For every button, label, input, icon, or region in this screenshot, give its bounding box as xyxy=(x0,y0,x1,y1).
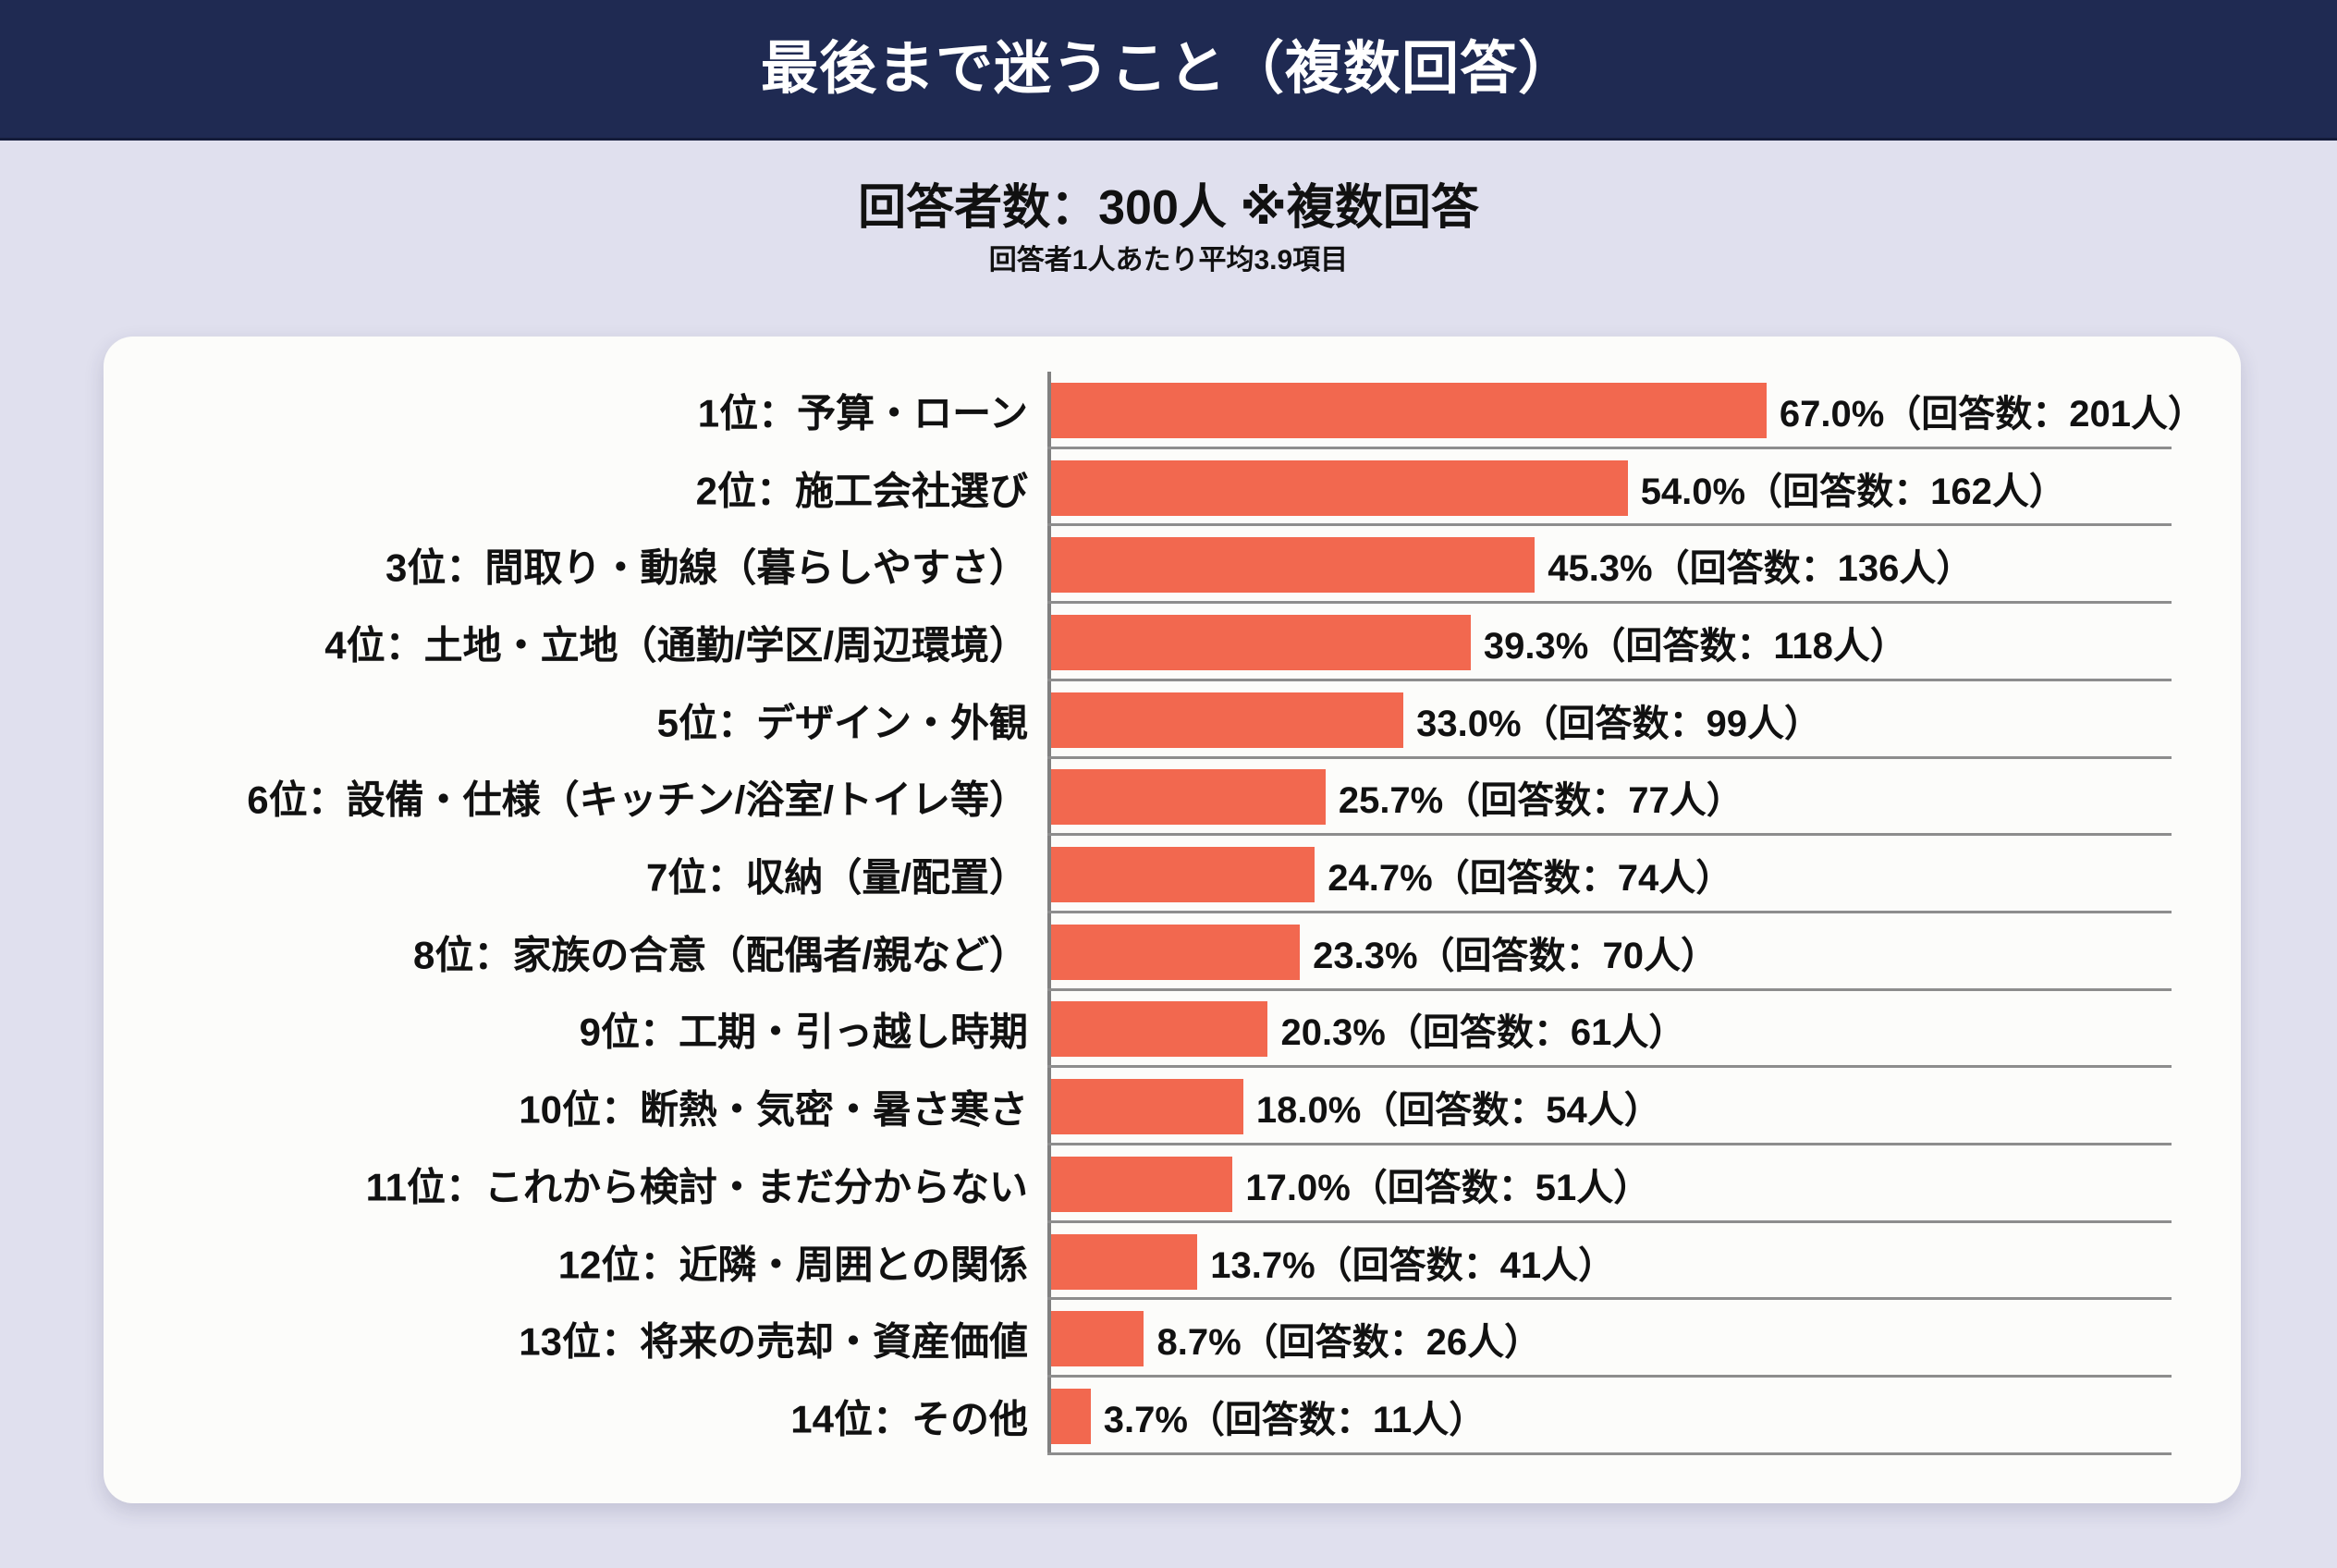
bar xyxy=(1051,1234,1197,1290)
category-label: 9位：工期・引っ越し時期 xyxy=(580,1001,1028,1058)
bar-track: 25.7%（回答数：77人） xyxy=(1051,769,2216,825)
bar-value-label: 67.0%（回答数：201人） xyxy=(1780,384,2205,437)
bar-value-label: 24.7%（回答数：74人） xyxy=(1328,848,1732,901)
bar xyxy=(1051,1079,1243,1134)
category-label: 11位：これから検討・まだ分からない xyxy=(366,1156,1028,1212)
chart-row: 5位：デザイン・外観33.0%（回答数：99人） xyxy=(104,681,2241,759)
category-label: 2位：施工会社選び xyxy=(696,459,1028,516)
bar xyxy=(1051,383,1767,438)
bar xyxy=(1051,925,1300,980)
chart-row: 13位：将来の売却・資産価値8.7%（回答数：26人） xyxy=(104,1300,2241,1378)
chart-row: 1位：予算・ローン67.0%（回答数：201人） xyxy=(104,372,2241,449)
bar xyxy=(1051,1389,1091,1444)
bar xyxy=(1051,692,1403,748)
average-items-label: 回答者1人あたり平均3.9項目 xyxy=(0,244,2337,277)
bar-value-label: 20.3%（回答数：61人） xyxy=(1280,1002,1685,1056)
chart-row: 4位：土地・立地（通勤/学区/周辺環境）39.3%（回答数：118人） xyxy=(104,604,2241,681)
bar-value-label: 33.0%（回答数：99人） xyxy=(1416,693,1821,747)
bar-value-label: 45.3%（回答数：136人） xyxy=(1548,538,1973,592)
chart-row: 10位：断熱・気密・暑さ寒さ18.0%（回答数：54人） xyxy=(104,1068,2241,1145)
bar xyxy=(1051,537,1535,593)
category-label: 14位：その他 xyxy=(790,1388,1028,1444)
chart-row: 8位：家族の合意（配偶者/親など）23.3%（回答数：70人） xyxy=(104,913,2241,991)
respondent-count-label: 回答者数：300人 ※複数回答 xyxy=(0,181,2337,237)
bar-value-label: 17.0%（回答数：51人） xyxy=(1245,1158,1650,1211)
bar-track: 18.0%（回答数：54人） xyxy=(1051,1079,2216,1134)
bar xyxy=(1051,847,1315,902)
slide-root: 最後まで迷うこと（複数回答） 回答者数：300人 ※複数回答 回答者1人あたり平… xyxy=(0,0,2337,1568)
bar xyxy=(1051,615,1471,670)
category-label: 6位：設備・仕様（キッチン/浴室/トイレ等） xyxy=(247,769,1028,826)
bar-track: 3.7%（回答数：11人） xyxy=(1051,1389,2216,1444)
category-label: 7位：収納（量/配置） xyxy=(646,847,1028,903)
bar xyxy=(1051,1157,1232,1212)
bar-track: 17.0%（回答数：51人） xyxy=(1051,1157,2216,1212)
header-band: 最後まで迷うこと（複数回答） xyxy=(0,0,2337,141)
bar-track: 20.3%（回答数：61人） xyxy=(1051,1001,2216,1057)
category-label: 1位：予算・ローン xyxy=(698,382,1028,438)
category-label: 10位：断熱・気密・暑さ寒さ xyxy=(519,1079,1028,1135)
bar xyxy=(1051,1311,1144,1366)
gridline xyxy=(1047,1452,2172,1455)
bar-track: 45.3%（回答数：136人） xyxy=(1051,537,2216,593)
chart-row: 6位：設備・仕様（キッチン/浴室/トイレ等）25.7%（回答数：77人） xyxy=(104,759,2241,837)
category-label: 4位：土地・立地（通勤/学区/周辺環境） xyxy=(324,614,1028,670)
category-label: 8位：家族の合意（配偶者/親など） xyxy=(413,924,1028,980)
chart-row: 14位：その他3.7%（回答数：11人） xyxy=(104,1378,2241,1455)
category-label: 5位：デザイン・外観 xyxy=(657,692,1028,748)
bar-value-label: 23.3%（回答数：70人） xyxy=(1313,925,1718,979)
bar-value-label: 54.0%（回答数：162人） xyxy=(1641,461,2066,515)
bar-value-label: 3.7%（回答数：11人） xyxy=(1104,1390,1486,1443)
category-label: 12位：近隣・周囲との関係 xyxy=(558,1233,1028,1290)
bar xyxy=(1051,769,1326,825)
bar-track: 39.3%（回答数：118人） xyxy=(1051,615,2216,670)
bar-track: 67.0%（回答数：201人） xyxy=(1051,383,2216,438)
bar-chart: 1位：予算・ローン67.0%（回答数：201人）2位：施工会社選び54.0%（回… xyxy=(104,337,2241,1503)
chart-card: 1位：予算・ローン67.0%（回答数：201人）2位：施工会社選び54.0%（回… xyxy=(104,337,2241,1503)
bar-track: 8.7%（回答数：26人） xyxy=(1051,1311,2216,1366)
bar-track: 13.7%（回答数：41人） xyxy=(1051,1234,2216,1290)
bar-value-label: 18.0%（回答数：54人） xyxy=(1256,1080,1661,1133)
bar xyxy=(1051,460,1628,516)
chart-row: 7位：収納（量/配置）24.7%（回答数：74人） xyxy=(104,836,2241,913)
chart-row: 11位：これから検討・まだ分からない17.0%（回答数：51人） xyxy=(104,1145,2241,1223)
page-title: 最後まで迷うこと（複数回答） xyxy=(761,41,1576,98)
bar-value-label: 25.7%（回答数：77人） xyxy=(1339,770,1744,824)
bar xyxy=(1051,1001,1267,1057)
chart-row: 3位：間取り・動線（暮らしやすさ）45.3%（回答数：136人） xyxy=(104,526,2241,604)
chart-row: 9位：工期・引っ越し時期20.3%（回答数：61人） xyxy=(104,991,2241,1069)
bar-track: 33.0%（回答数：99人） xyxy=(1051,692,2216,748)
bar-track: 54.0%（回答数：162人） xyxy=(1051,460,2216,516)
chart-row: 2位：施工会社選び54.0%（回答数：162人） xyxy=(104,449,2241,527)
chart-rows: 1位：予算・ローン67.0%（回答数：201人）2位：施工会社選び54.0%（回… xyxy=(104,372,2241,1455)
category-label: 13位：将来の売却・資産価値 xyxy=(519,1311,1028,1367)
bar-track: 24.7%（回答数：74人） xyxy=(1051,847,2216,902)
bar-track: 23.3%（回答数：70人） xyxy=(1051,925,2216,980)
chart-row: 12位：近隣・周囲との関係13.7%（回答数：41人） xyxy=(104,1223,2241,1301)
bar-value-label: 39.3%（回答数：118人） xyxy=(1484,616,1907,669)
bar-value-label: 8.7%（回答数：26人） xyxy=(1156,1312,1541,1366)
category-label: 3位：間取り・動線（暮らしやすさ） xyxy=(385,537,1028,594)
subtitle-block: 回答者数：300人 ※複数回答 回答者1人あたり平均3.9項目 xyxy=(0,181,2337,277)
bar-value-label: 13.7%（回答数：41人） xyxy=(1210,1235,1615,1289)
